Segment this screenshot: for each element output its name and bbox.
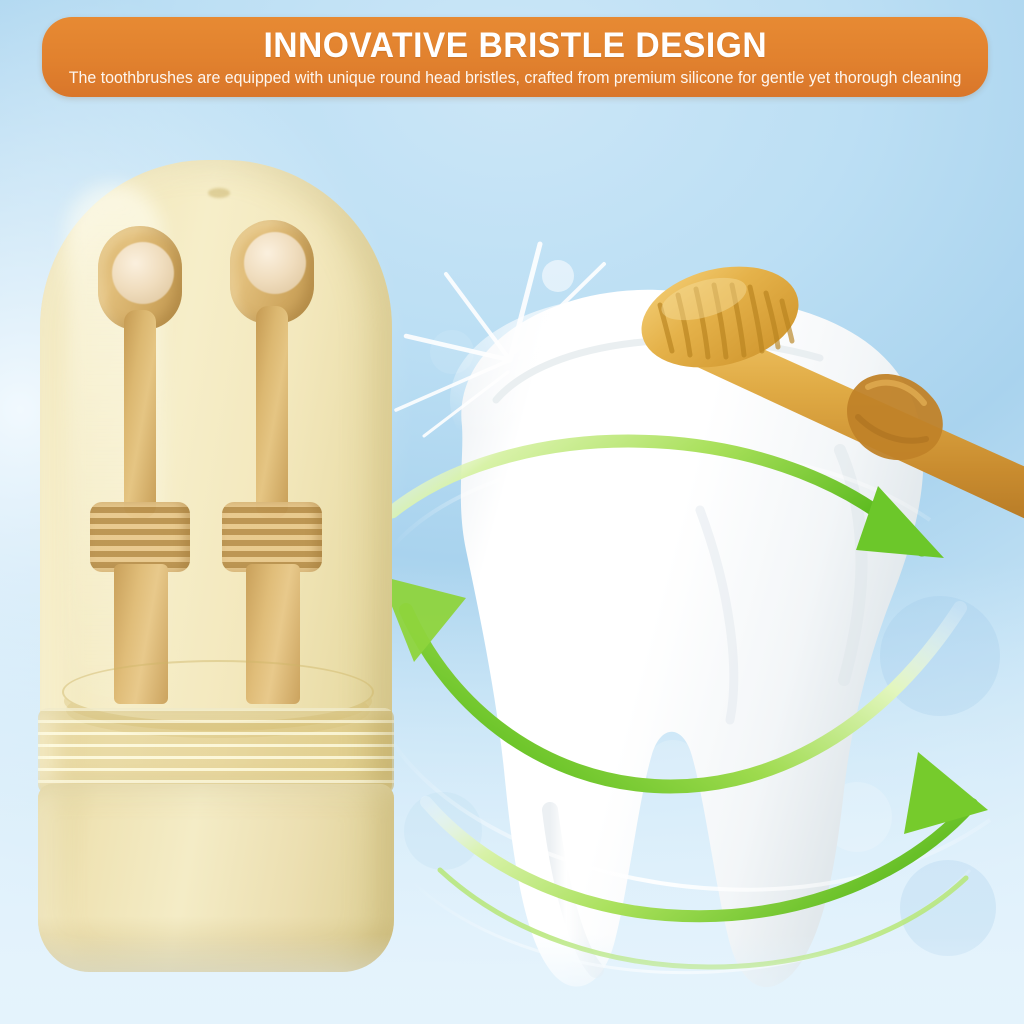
- banner-title: INNOVATIVE BRISTLE DESIGN: [263, 26, 767, 65]
- sparkle-dot: [542, 260, 574, 292]
- orbit-arrow-bottom: [426, 802, 972, 916]
- orbit-arrowhead-diagonal: [380, 576, 466, 662]
- product-marketing-image: INNOVATIVE BRISTLE DESIGN The toothbrush…: [0, 0, 1024, 1024]
- banner-subtitle: The toothbrushes are equipped with uniqu…: [69, 68, 962, 88]
- travel-case: [40, 160, 392, 972]
- brush-neck: [256, 306, 288, 518]
- case-base-cup: [38, 784, 394, 972]
- brush-grip: [90, 502, 190, 572]
- orbit-arrow-diagonal: [406, 608, 960, 786]
- header-banner: INNOVATIVE BRISTLE DESIGN The toothbrush…: [42, 17, 988, 97]
- toothbrush-illustration: [600, 255, 1024, 545]
- case-screw-thread: [38, 708, 394, 794]
- orbit-arrowhead-bottom: [904, 752, 988, 834]
- brush-neck: [124, 310, 156, 518]
- brush-grip: [222, 502, 322, 572]
- brush-bristle-tip: [112, 242, 174, 304]
- case-top-nub: [208, 188, 230, 198]
- case-base-shadow: [38, 916, 394, 972]
- brush-bristle-tip: [244, 232, 306, 294]
